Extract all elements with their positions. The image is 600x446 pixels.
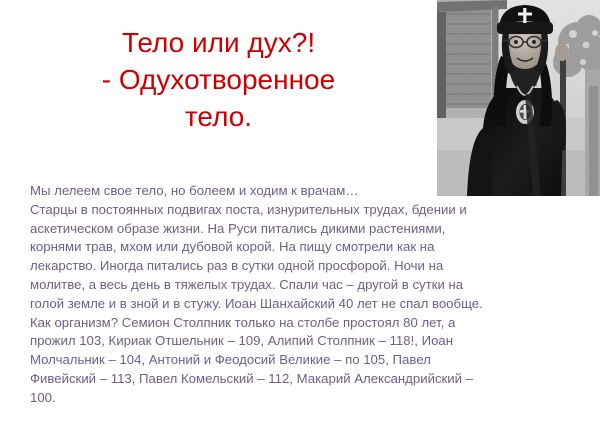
body-line: Молчальник – 104, Антоний и Феодосий Вел… [30, 351, 582, 370]
body-line: прожил 103, Кириак Отшельник – 109, Алип… [30, 332, 582, 351]
body-line: молитве, а весь день в тяжелых трудах. С… [30, 276, 582, 295]
title-line-2: - Одухотворенное [0, 61, 437, 98]
title-line-3: тело. [0, 98, 437, 135]
body-line: Как организм? Семион Столпник только на … [30, 314, 582, 333]
body-line: Старцы в постоянных подвигах поста, изну… [30, 201, 582, 220]
body-line: корнями трав, мхом или дубовой корой. На… [30, 238, 582, 257]
slide-body-text: Мы лелеем свое тело, но болеем и ходим к… [30, 182, 582, 408]
body-line: Мы лелеем свое тело, но болеем и ходим к… [30, 182, 582, 201]
bishop-photo [437, 0, 600, 196]
body-line: 100. [30, 389, 582, 408]
body-line: Фивейский – 113, Павел Комельский – 112,… [30, 370, 582, 389]
title-line-1: Тело или дух?! [0, 24, 437, 61]
slide-title: Тело или дух?! - Одухотворенное тело. [0, 24, 437, 135]
slide-canvas: Тело или дух?! - Одухотворенное тело. Мы… [0, 0, 600, 446]
body-line: голой земле и в зной и в стужу. Иоан Шан… [30, 295, 582, 314]
body-line: лекарство. Иногда питались раз в сутки о… [30, 257, 582, 276]
body-line: аскетическом образе жизни. На Руси питал… [30, 220, 582, 239]
